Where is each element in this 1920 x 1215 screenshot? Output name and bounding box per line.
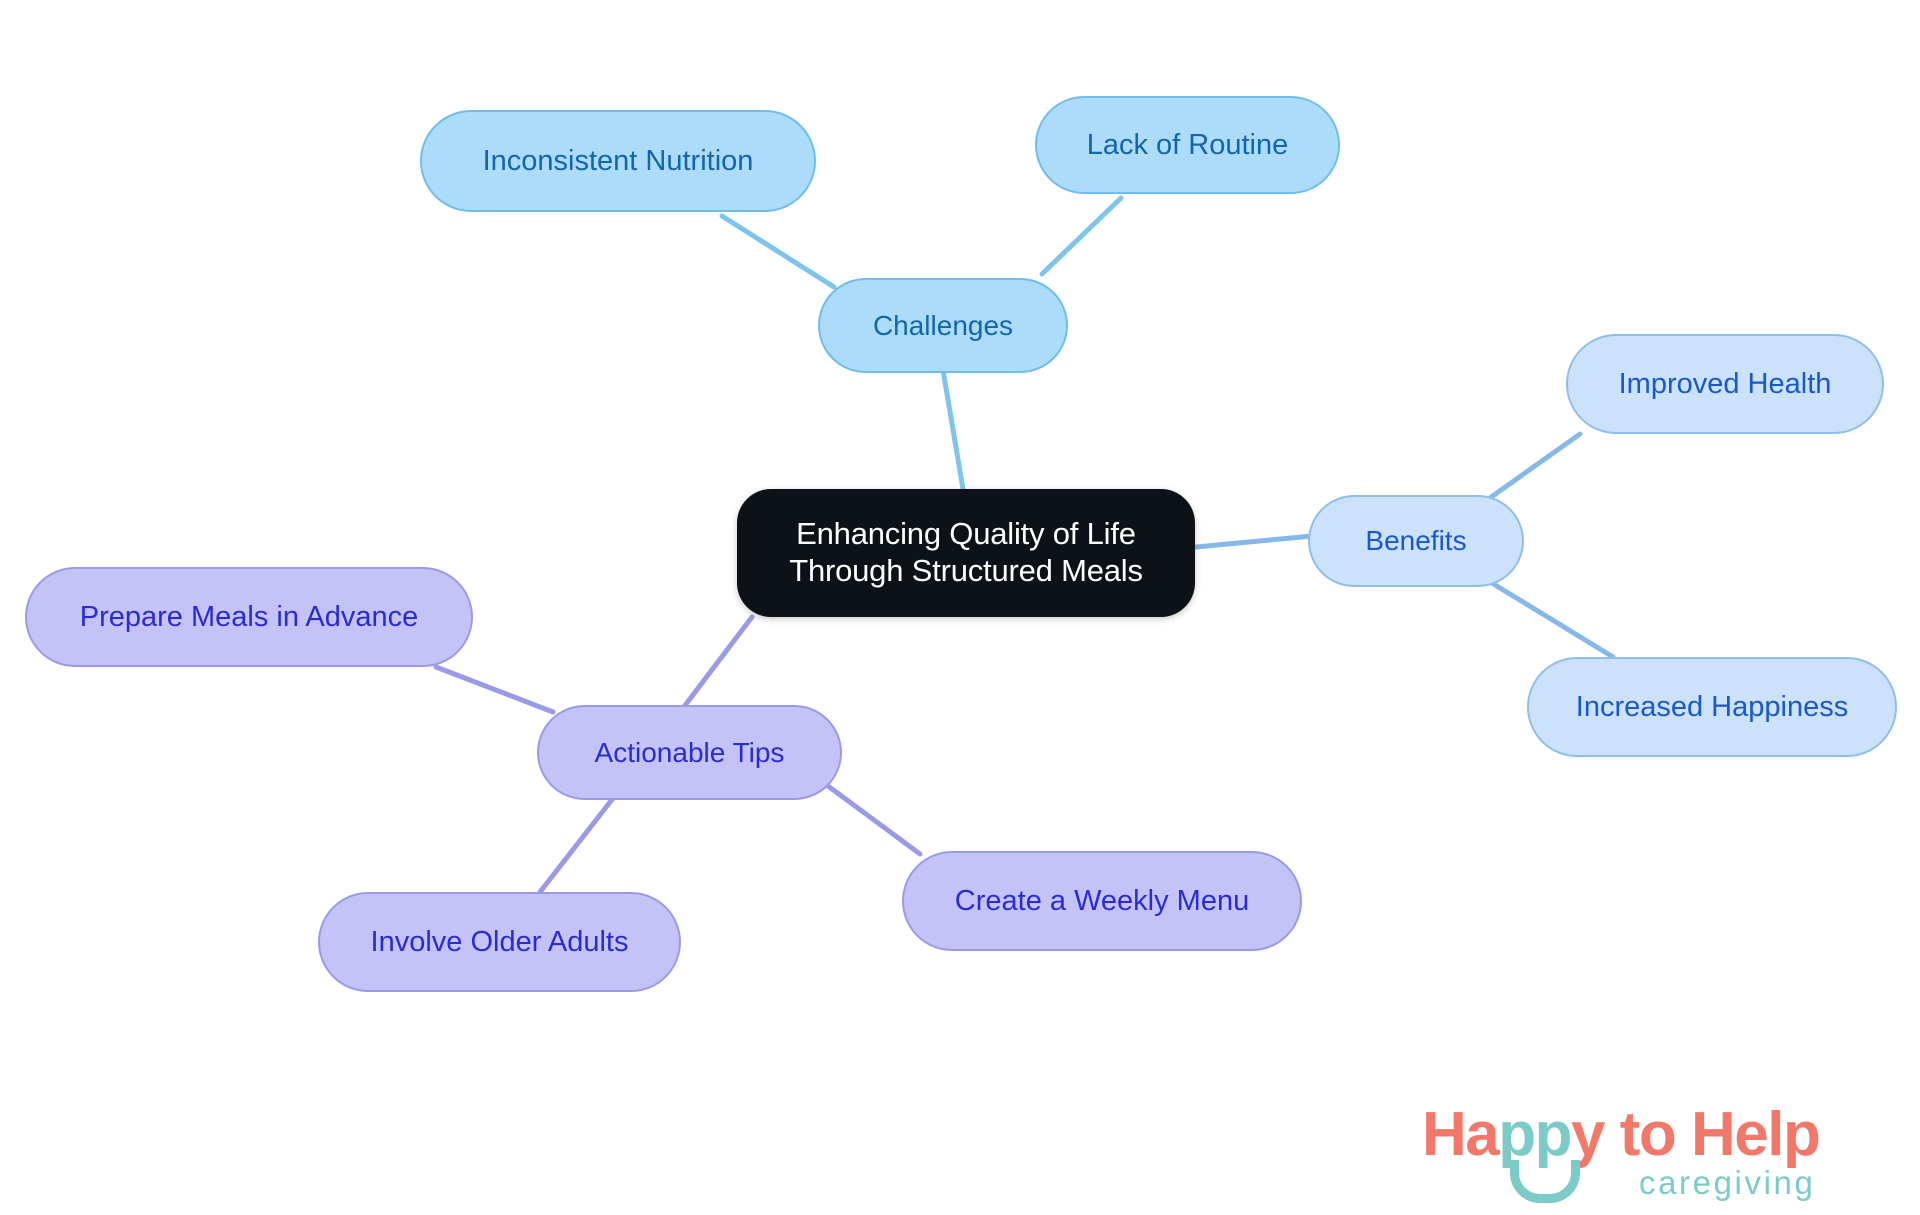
node-root[interactable]: Enhancing Quality of Life Through Struct…	[737, 489, 1195, 617]
node-increased-happiness[interactable]: Increased Happiness	[1527, 657, 1897, 757]
node-inconsistent-nutrition[interactable]: Inconsistent Nutrition	[420, 110, 816, 212]
edge-root-challenges	[943, 370, 963, 489]
node-prepare-meals-in-advance[interactable]: Prepare Meals in Advance	[25, 567, 473, 667]
node-actionable-tips[interactable]: Actionable Tips	[537, 705, 842, 800]
edge-root-tips	[680, 617, 752, 712]
node-benefits[interactable]: Benefits	[1308, 495, 1524, 587]
edge-benefits-happiness	[1487, 580, 1613, 657]
edge-tips-weekly-menu	[828, 786, 920, 854]
edge-tips-prepare	[436, 667, 553, 712]
node-improved-health[interactable]: Improved Health	[1566, 334, 1884, 434]
node-lack-of-routine[interactable]: Lack of Routine	[1035, 96, 1340, 194]
node-label: Challenges	[873, 309, 1013, 342]
node-label: Increased Happiness	[1576, 690, 1848, 724]
node-involve-older-adults[interactable]: Involve Older Adults	[318, 892, 681, 992]
node-challenges[interactable]: Challenges	[818, 278, 1068, 373]
logo-word-part-c: y to Help	[1571, 1100, 1819, 1169]
node-label: Inconsistent Nutrition	[483, 144, 754, 178]
edge-challenges-nutrition	[722, 216, 834, 287]
brand-logo: Happy to Help caregiving	[1422, 1104, 1892, 1204]
node-label: Prepare Meals in Advance	[80, 600, 419, 634]
node-label: Involve Older Adults	[371, 925, 629, 959]
node-label: Improved Health	[1619, 367, 1832, 401]
node-label: Enhancing Quality of Life Through Struct…	[789, 516, 1143, 589]
smile-icon	[1510, 1160, 1580, 1203]
mindmap-canvas: Enhancing Quality of Life Through Struct…	[0, 0, 1920, 1215]
node-create-a-weekly-menu[interactable]: Create a Weekly Menu	[902, 851, 1302, 951]
node-label: Actionable Tips	[595, 736, 785, 769]
edge-benefits-health	[1487, 434, 1580, 500]
edge-tips-involve	[540, 797, 614, 892]
logo-word-part-b: pp	[1498, 1100, 1571, 1169]
node-label: Lack of Routine	[1087, 128, 1289, 162]
edge-root-benefits	[1196, 536, 1312, 547]
node-label: Benefits	[1365, 524, 1466, 557]
logo-wordmark: Happy to Help	[1422, 1104, 1819, 1166]
logo-word-part-a: Ha	[1422, 1100, 1498, 1169]
node-label: Create a Weekly Menu	[955, 884, 1249, 918]
logo-tagline: caregiving	[1639, 1166, 1815, 1199]
edge-challenges-routine	[1042, 198, 1121, 274]
